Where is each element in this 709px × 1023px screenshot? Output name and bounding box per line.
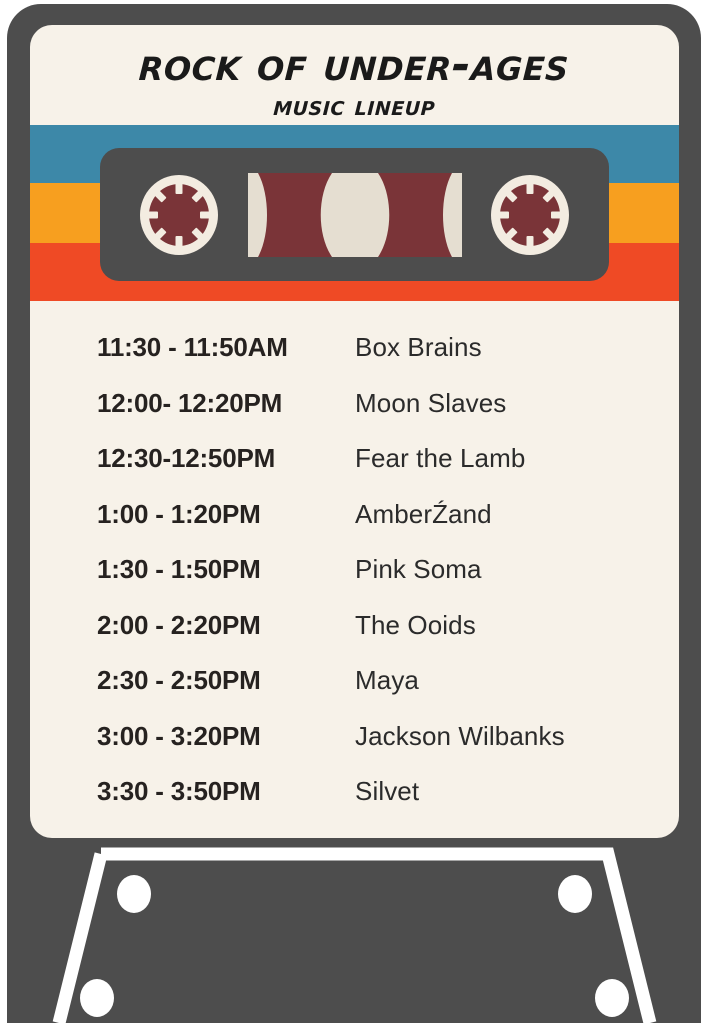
lineup-row: 11:30 - 11:50AM Box Brains xyxy=(30,320,679,376)
lineup-row-band: Box Brains xyxy=(355,332,482,363)
lineup-row-time: 2:30 - 2:50PM xyxy=(97,665,261,696)
lineup-row-band: Pink Soma xyxy=(355,554,482,585)
lineup-row: 3:30 - 3:50PM Silvet xyxy=(30,764,679,820)
cassette-tape-window xyxy=(248,173,462,257)
lineup-row-band: The Ooids xyxy=(355,610,476,641)
lineup-row-time: 3:30 - 3:50PM xyxy=(97,776,261,807)
easel-stand xyxy=(0,846,709,1023)
lineup-row-band: Maya xyxy=(355,665,419,696)
lineup-row: 3:00 - 3:20PM Jackson Wilbanks xyxy=(30,709,679,765)
lineup-row-band: Silvet xyxy=(355,776,419,807)
lineup-row-time: 12:00- 12:20PM xyxy=(97,388,282,419)
cassette-reel-left xyxy=(138,174,220,256)
lineup-schedule: 11:30 - 11:50AM Box Brains 12:00- 12:20P… xyxy=(30,320,679,820)
cassette-reel-right xyxy=(489,174,571,256)
lineup-row-band: Jackson Wilbanks xyxy=(355,721,565,752)
lineup-row: 12:30-12:50PM Fear the Lamb xyxy=(30,431,679,487)
page-title: Rock of Under-Ages xyxy=(30,25,679,87)
lineup-row-band: Fear the Lamb xyxy=(355,443,525,474)
lineup-row-time: 3:00 - 3:20PM xyxy=(97,721,261,752)
lineup-row-time: 2:00 - 2:20PM xyxy=(97,610,261,641)
lineup-row-band: AmberŹand xyxy=(355,499,492,530)
lineup-row: 1:00 - 1:20PM AmberŹand xyxy=(30,487,679,543)
lineup-row: 2:30 - 2:50PM Maya xyxy=(30,653,679,709)
lineup-row: 2:00 - 2:20PM The Ooids xyxy=(30,598,679,654)
poster-root: Rock of Under-Ages Music Lineup xyxy=(0,0,709,1023)
lineup-row: 1:30 - 1:50PM Pink Soma xyxy=(30,542,679,598)
cassette-body xyxy=(100,148,609,281)
lineup-row-time: 12:30-12:50PM xyxy=(97,443,275,474)
lineup-row-time: 11:30 - 11:50AM xyxy=(97,332,288,363)
poster-heading-group: Rock of Under-Ages Music Lineup xyxy=(30,25,679,120)
lineup-row: 12:00- 12:20PM Moon Slaves xyxy=(30,376,679,432)
lineup-row-band: Moon Slaves xyxy=(355,388,506,419)
lineup-row-time: 1:30 - 1:50PM xyxy=(97,554,261,585)
poster-panel: Rock of Under-Ages Music Lineup xyxy=(30,25,679,838)
cassette-tape-illustration xyxy=(30,125,679,301)
page-subtitle: Music Lineup xyxy=(30,87,679,120)
lineup-row-time: 1:00 - 1:20PM xyxy=(97,499,261,530)
